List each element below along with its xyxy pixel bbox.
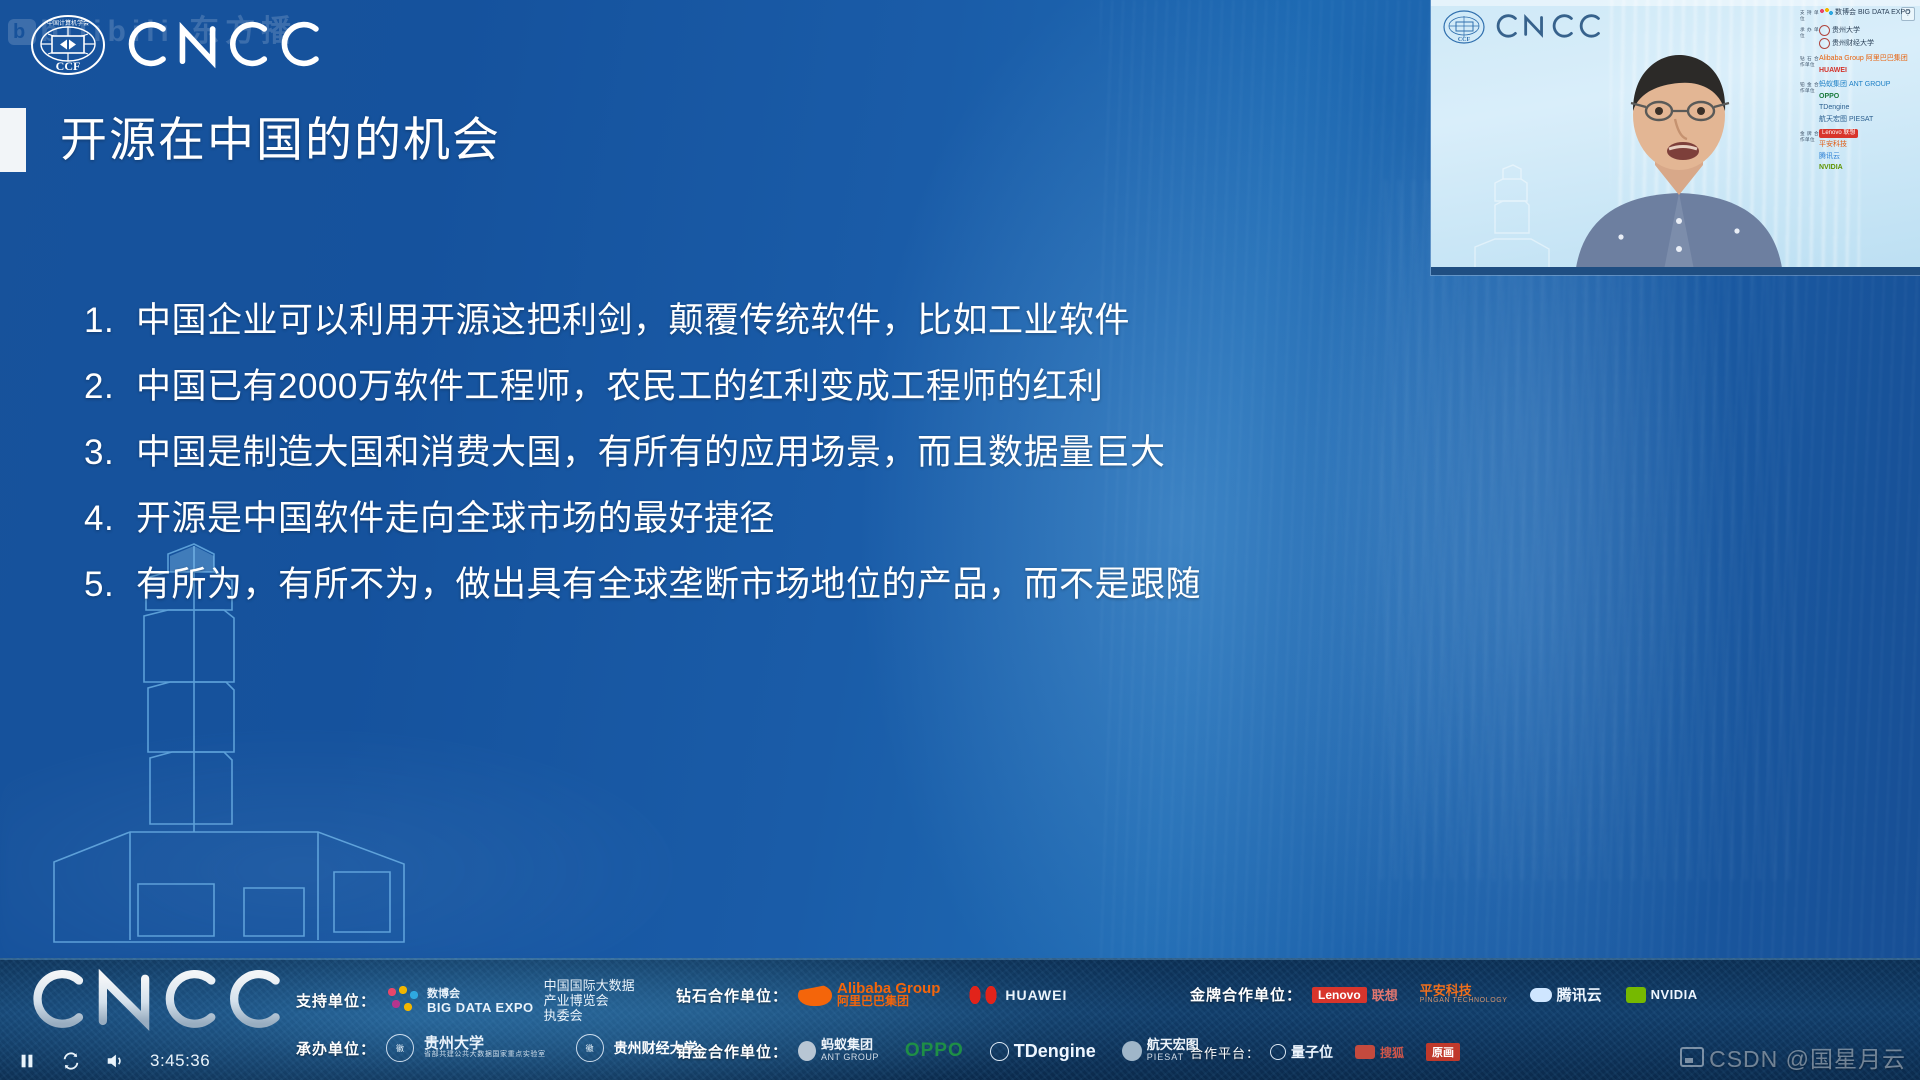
pip-logo-guizhou-univ: 贵州大学: [1819, 25, 1916, 36]
page-title: 开源在中国的的机会: [60, 111, 501, 169]
pip-logo-alibaba: Alibaba Group 阿里巴巴集团: [1819, 54, 1916, 64]
oppo-label: OPPO: [905, 1040, 964, 1062]
sponsor-logo-tencent-cloud: 腾讯云: [1530, 984, 1602, 1005]
pip-logo-guizhou-finance: 贵州财经大学: [1819, 38, 1916, 49]
ant-group-sub-label: ANT GROUP: [821, 1051, 879, 1064]
pip-logo-label: TDengine: [1819, 103, 1849, 113]
ccf-logo-icon: CCF 中国计算机学会: [30, 14, 106, 76]
guizhou-univ-label: 贵州大学: [424, 1038, 546, 1051]
pip-logo-tencent: 腾讯云: [1819, 152, 1916, 162]
speaker-video-overlay[interactable]: CCF ?: [1431, 0, 1920, 275]
pip-logo-piesat: 航天宏图 PIESAT: [1819, 115, 1916, 125]
list-item: 5. 有所为，有所不为，做出具有全球垄断市场地位的产品，而不是跟随: [84, 552, 1384, 618]
ant-group-label: 蚂蚁集团: [821, 1038, 879, 1051]
bigdata-expo-icon: [386, 986, 422, 1016]
pip-logo-label: HUAWEI: [1819, 66, 1847, 76]
sponsor-row-platinum: 铂金合作单位： 蚂蚁集团 ANT GROUP OPPO TDengine 航天宏…: [676, 1038, 1199, 1064]
pip-logo-oppo: OPPO: [1819, 92, 1916, 102]
pause-icon[interactable]: [16, 1050, 38, 1072]
pingan-label: 平安科技: [1420, 984, 1508, 997]
pip-ccf-logo-icon: CCF: [1443, 10, 1485, 44]
pip-sponsor-logos: Alibaba Group 阿里巴巴集团 HUAWEI: [1819, 54, 1916, 77]
volume-icon[interactable]: [104, 1050, 126, 1072]
title-accent-bar: [0, 108, 26, 172]
sponsor-row-platform: 合作平台： 量子位 搜狐 原画: [1190, 1042, 1460, 1062]
pip-sponsor-label: 承办单位: [1800, 25, 1819, 39]
list-item: 4. 开源是中国软件走向全球市场的最好捷径: [84, 486, 1384, 552]
list-item: 1. 中国企业可以利用开源这把利剑，颠覆传统软件，比如工业软件: [84, 288, 1384, 354]
pip-logo-label: Lenovo 联想: [1819, 129, 1858, 138]
alibaba-label: Alibaba Group 阿里巴巴集团: [837, 982, 940, 1008]
sponsor-logo-guizhou-univ: 贵州大学 省部共建公共大数据国家重点实验室: [424, 1038, 546, 1059]
pip-sponsor-group: 钻石合作单位 Alibaba Group 阿里巴巴集团 HUAWEI: [1800, 54, 1916, 77]
waterfall-streaks: [1380, 180, 1800, 880]
tdengine-label: TDengine: [1014, 1041, 1096, 1062]
ant-group-icon: [798, 1041, 816, 1061]
pip-sponsor-label: 支持单位: [1800, 8, 1819, 22]
pip-sponsor-group: 支持单位 数博会 BIG DATA EXPO: [1800, 8, 1916, 22]
sponsor-logo-huawei: HUAWEI: [966, 982, 1067, 1008]
tencent-cloud-icon: [1530, 988, 1552, 1002]
pip-sponsor-group: 铂金合作单位 蚂蚁集团 ANT GROUP OPPO TDengine 航天宏图…: [1800, 80, 1916, 126]
svg-text:CCF: CCF: [56, 59, 81, 73]
huawei-icon: [966, 982, 1000, 1008]
nvidia-label: NVIDIA: [1651, 987, 1698, 1002]
svg-text:中国计算机学会: 中国计算机学会: [47, 19, 89, 27]
sohu-label: 搜狐: [1380, 1044, 1404, 1061]
sponsor-logo-bigdata-expo: 数博会 BIG DATA EXPO: [386, 986, 534, 1016]
pip-logo-label: Alibaba Group 阿里巴巴集团: [1819, 54, 1908, 64]
slide-title-row: 开源在中国的的机会: [0, 108, 501, 172]
footer-cncc-wordmark: [22, 964, 298, 1032]
pip-cncc-wordmark: [1493, 11, 1605, 41]
pip-sponsor-group: 承办单位 贵州大学 贵州财经大学: [1800, 25, 1916, 51]
sponsor-logo-yuanhua: 原画: [1426, 1043, 1460, 1061]
pip-logo-lenovo: Lenovo 联想: [1819, 129, 1916, 138]
footer-divider: [0, 958, 1920, 960]
pip-logo-nvidia: NVIDIA: [1819, 163, 1916, 173]
pip-logo-ant: 蚂蚁集团 ANT GROUP: [1819, 80, 1916, 90]
pip-logo-label: OPPO: [1819, 92, 1839, 102]
pip-sponsor-logos: 蚂蚁集团 ANT GROUP OPPO TDengine 航天宏图 PIESAT: [1819, 80, 1916, 126]
qbitai-icon: [1270, 1044, 1286, 1060]
sponsor-row-label: 钻石合作单位：: [676, 985, 788, 1006]
list-item-number: 5.: [84, 552, 136, 618]
presentation-stream: bbilibili 东方播 CCF 中国计算机学会: [0, 0, 1920, 1080]
sponsor-row-organizer: 承办单位： 徽 贵州大学 省部共建公共大数据国家重点实验室 徽 贵州财经大学: [296, 1034, 698, 1062]
pip-logo-label: 腾讯云: [1819, 152, 1840, 162]
tencent-cloud-label: 腾讯云: [1557, 984, 1602, 1005]
list-item-text: 开源是中国软件走向全球市场的最好捷径: [136, 486, 1384, 552]
pip-sponsor-logos: Lenovo 联想 平安科技 腾讯云 NVIDIA: [1819, 129, 1916, 175]
playback-time: 3:45:36: [150, 1051, 210, 1071]
sponsor-logo-pingan: 平安科技 PINGAN TECHNOLOGY: [1420, 984, 1508, 1005]
list-item-number: 1.: [84, 288, 136, 354]
huawei-label: HUAWEI: [1005, 987, 1067, 1003]
list-item-text: 有所为，有所不为，做出具有全球垄断市场地位的产品，而不是跟随: [136, 552, 1384, 618]
pip-sponsor-logos: 数博会 BIG DATA EXPO: [1819, 8, 1916, 20]
pip-sponsor-label: 金牌合作单位: [1800, 129, 1819, 143]
pip-logo-label: 蚂蚁集团 ANT GROUP: [1819, 80, 1890, 90]
pip-sponsor-label: 钻石合作单位: [1800, 54, 1819, 68]
sponsor-row-label: 金牌合作单位：: [1190, 984, 1302, 1005]
sponsor-row-support: 支持单位： 数博会 BIG DATA EXPO 中国国际大数据 产业博览会 执委…: [296, 978, 635, 1023]
sponsor-logo-oppo: OPPO: [905, 1040, 964, 1062]
list-item-number: 3.: [84, 420, 136, 486]
guizhou-finance-seal-icon: 徽: [576, 1034, 604, 1062]
cncc-wordmark: [120, 16, 325, 72]
piesat-icon: [1122, 1041, 1142, 1061]
csdn-watermark-text: CSDN @国星月云: [1709, 1040, 1906, 1074]
sponsor-logo-qbitai: 量子位: [1270, 1042, 1333, 1062]
csdn-watermark: CSDN @国星月云: [1680, 1040, 1906, 1074]
pip-logo-label: 贵州财经大学: [1832, 39, 1874, 49]
pip-sponsor-label: 铂金合作单位: [1800, 80, 1819, 94]
pip-sponsor-rail: 支持单位 数博会 BIG DATA EXPO 承办单位 贵州大学: [1800, 8, 1916, 178]
alibaba-icon: [798, 984, 832, 1006]
speaker-figure: [1559, 45, 1799, 275]
sponsor-logo-piesat: 航天宏图 PIESAT: [1122, 1038, 1199, 1064]
list-item: 2. 中国已有2000万软件工程师，农民工的红利变成工程师的红利: [84, 354, 1384, 420]
list-item: 3. 中国是制造大国和消费大国，有所有的应用场景，而且数据量巨大: [84, 420, 1384, 486]
sohu-icon: [1355, 1045, 1375, 1059]
sponsor-logo-nvidia: NVIDIA: [1626, 987, 1698, 1003]
sponsor-row-label: 承办单位：: [296, 1038, 376, 1059]
pip-logo-bigdata: 数博会 BIG DATA EXPO: [1819, 8, 1916, 18]
list-item-text: 中国企业可以利用开源这把利剑，颠覆传统软件，比如工业软件: [136, 288, 1384, 354]
list-item-text: 中国已有2000万软件工程师，农民工的红利变成工程师的红利: [136, 354, 1384, 420]
sponsor-logo-alibaba: Alibaba Group 阿里巴巴集团: [798, 982, 940, 1008]
pip-logo-huawei: HUAWEI: [1819, 66, 1916, 76]
lenovo-label: Lenovo: [1312, 987, 1367, 1003]
guizhou-univ-seal-icon: 徽: [386, 1034, 414, 1062]
lenovo-cn-label: 联想: [1372, 985, 1398, 1004]
pip-logo-label: 航天宏图 PIESAT: [1819, 115, 1873, 125]
sponsor-logo-lenovo: Lenovo 联想: [1312, 985, 1398, 1004]
pip-logo-label: 数博会 BIG DATA EXPO: [1835, 8, 1911, 18]
sponsor-logo-ant-group: 蚂蚁集团 ANT GROUP: [798, 1038, 879, 1064]
loop-icon[interactable]: [60, 1050, 82, 1072]
csdn-watermark-icon: [1680, 1047, 1704, 1067]
list-item-number: 2.: [84, 354, 136, 420]
pip-logo-pingan: 平安科技: [1819, 140, 1916, 150]
slide-bullet-list: 1. 中国企业可以利用开源这把利剑，颠覆传统软件，比如工业软件 2. 中国已有2…: [84, 288, 1384, 618]
list-item-number: 4.: [84, 486, 136, 552]
svg-text:CCF: CCF: [1458, 37, 1471, 43]
pip-logo-label: 贵州大学: [1832, 26, 1860, 36]
sponsor-row-gold: 金牌合作单位： Lenovo 联想 平安科技 PINGAN TECHNOLOGY…: [1190, 984, 1698, 1005]
qbitai-label: 量子位: [1291, 1042, 1333, 1062]
sponsor-row-label: 铂金合作单位：: [676, 1041, 788, 1062]
footer-sponsor-band: 3:45:36 支持单位： 数博会 BIG DATA EXPO 中国国际大数据 …: [0, 958, 1920, 1080]
pip-sponsor-group: 金牌合作单位 Lenovo 联想 平安科技 腾讯云 NVIDIA: [1800, 129, 1916, 175]
sponsor-row-label: 合作平台：: [1190, 1043, 1260, 1062]
pip-sponsor-logos: 贵州大学 贵州财经大学: [1819, 25, 1916, 51]
pip-logo-tdengine: TDengine: [1819, 103, 1916, 113]
pingan-sub-label: PINGAN TECHNOLOGY: [1420, 997, 1508, 1005]
sponsor-logo-sohu: 搜狐: [1355, 1044, 1404, 1061]
guizhou-univ-sub-label: 省部共建公共大数据国家重点实验室: [424, 1051, 546, 1059]
tdengine-icon: [990, 1042, 1009, 1061]
pip-bottom-strip: [1431, 267, 1920, 275]
sponsor-row-diamond: 钻石合作单位： Alibaba Group 阿里巴巴集团 HUAWEI: [676, 982, 1067, 1008]
pip-tower-art: [1469, 161, 1553, 271]
pip-logo-label: 平安科技: [1819, 140, 1847, 150]
video-player-controls[interactable]: 3:45:36: [16, 1050, 210, 1072]
yuanhua-label: 原画: [1426, 1043, 1460, 1061]
list-item-text: 中国是制造大国和消费大国，有所有的应用场景，而且数据量巨大: [136, 420, 1384, 486]
nvidia-icon: [1626, 987, 1646, 1003]
pip-logo-label: NVIDIA: [1819, 163, 1843, 173]
sponsor-logo-tdengine: TDengine: [990, 1041, 1096, 1062]
bigdata-expo-committee: 中国国际大数据 产业博览会 执委会: [544, 978, 635, 1023]
sponsor-row-label: 支持单位：: [296, 990, 376, 1011]
bigdata-expo-label: 数博会 BIG DATA EXPO: [427, 988, 534, 1014]
